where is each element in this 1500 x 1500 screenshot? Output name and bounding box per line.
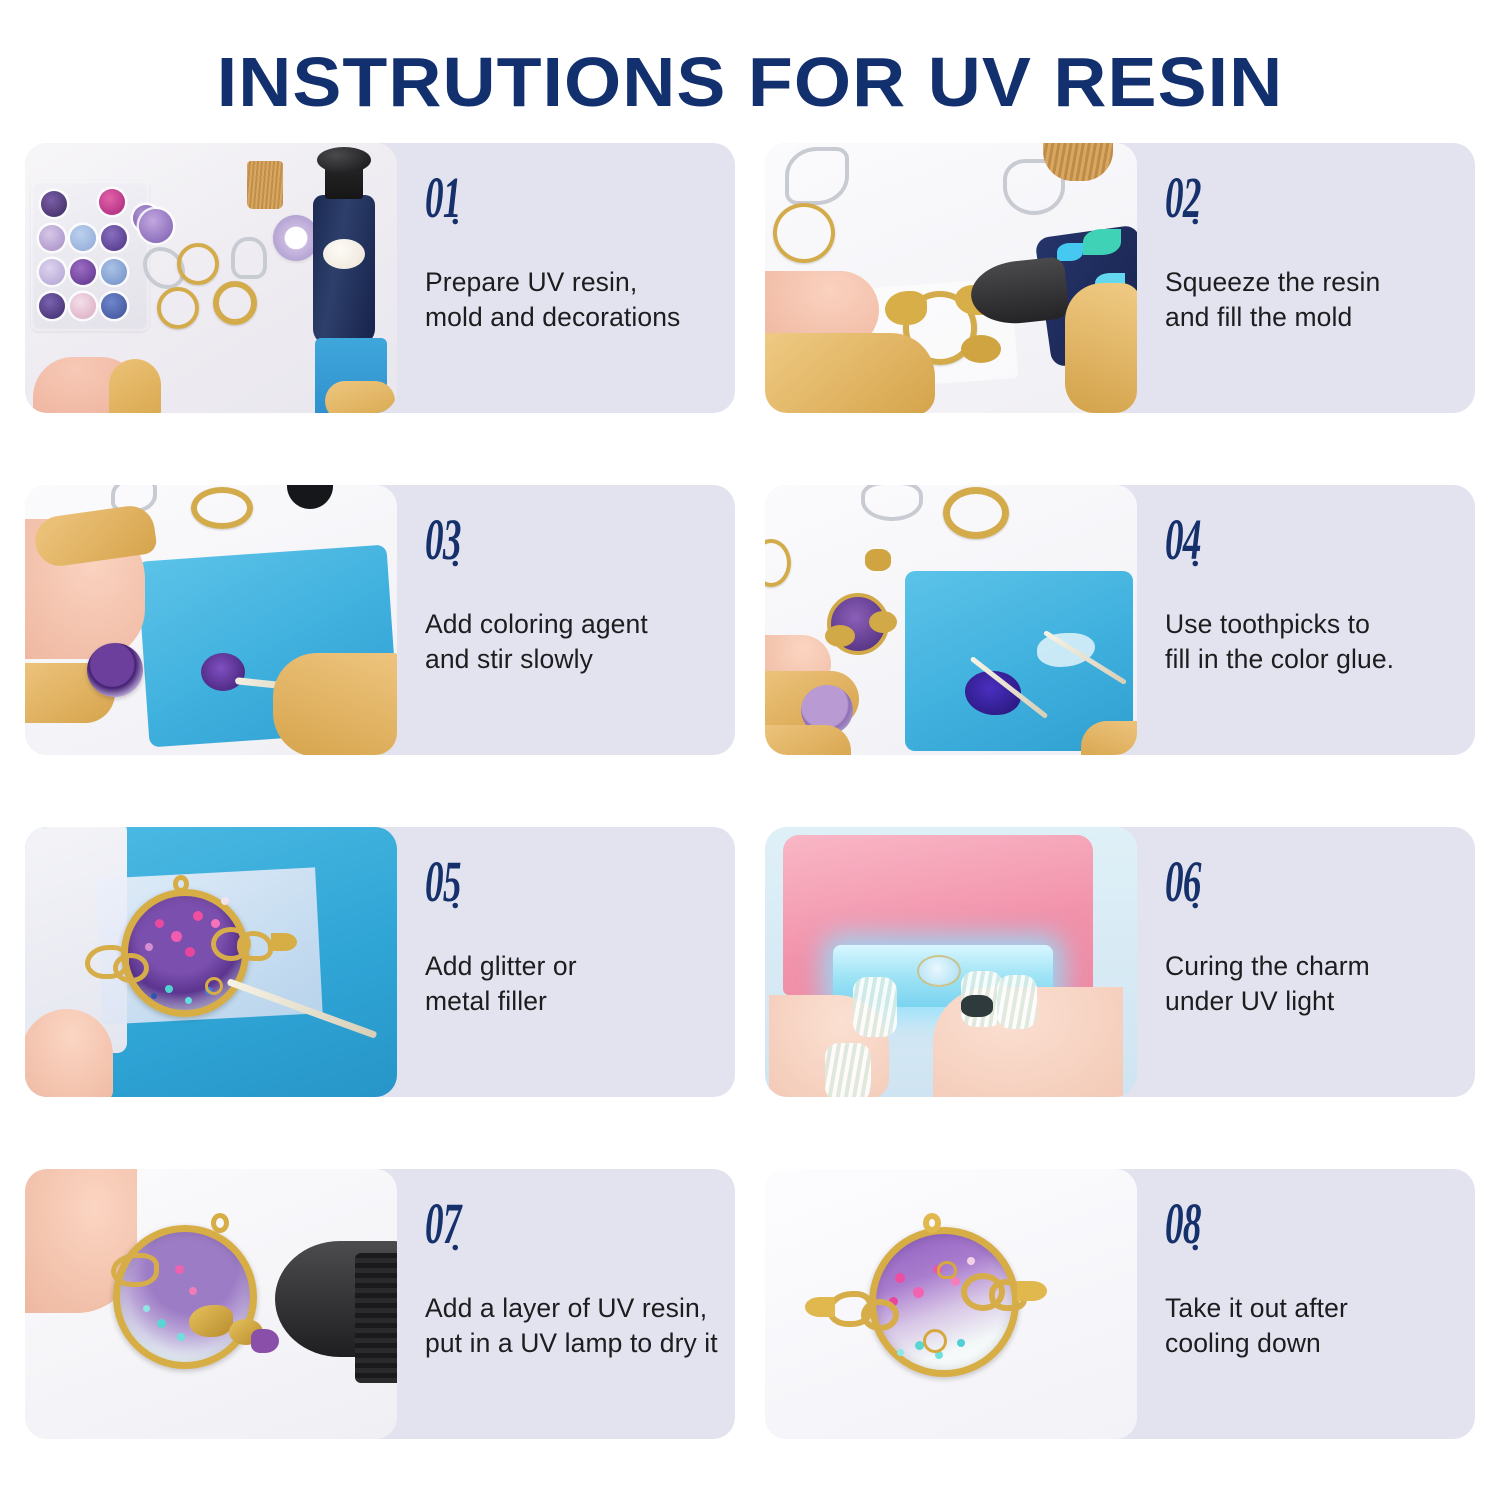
step-body-04: 04. Use toothpicks to fill in the color …: [1137, 485, 1475, 755]
step-card-03: 03. Add coloring agent and stir slowly: [25, 485, 735, 755]
step-body-01: 01. Prepare UV resin, mold and decoratio…: [397, 143, 735, 413]
photo-curing-charm-in-uv-lamp: [765, 827, 1137, 1097]
step-card-02: 02. Squeeze the resin and fill the mold: [765, 143, 1475, 413]
step-text-07: Add a layer of UV resin, put in a UV lam…: [425, 1291, 718, 1361]
step-text-08: Take it out after cooling down: [1165, 1291, 1348, 1361]
step-number-04: 04: [1165, 511, 1201, 569]
photo-adding-top-layer-of-resin: [25, 1169, 397, 1439]
photo-curing-charm-in-uv-lamp-card: 06. Curing the charm under UV light: [765, 827, 1475, 1097]
step-number-02: 02: [1165, 169, 1201, 227]
photo-supplies-glitter-tray-resin-bottle: [25, 143, 397, 413]
photo-finished-gold-resin-charm: [765, 1169, 1137, 1439]
step-text-02: Squeeze the resin and fill the mold: [1165, 265, 1380, 335]
step-number-08: 08: [1165, 1195, 1201, 1253]
step-number-07: 07: [425, 1195, 461, 1253]
photo-squeezing-resin-into-mold: [765, 143, 1137, 413]
step-card-07: 07. Add a layer of UV resin, put in a UV…: [25, 1169, 735, 1439]
step-body-02: 02. Squeeze the resin and fill the mold: [1137, 143, 1475, 413]
step-card-04: 04. Use toothpicks to fill in the color …: [765, 485, 1475, 755]
step-card-08: 08. Take it out after cooling down: [765, 1169, 1475, 1439]
step-text-05: Add glitter or metal filler: [425, 949, 577, 1019]
photo-adding-purple-coloring-agent: [25, 485, 397, 755]
step-text-01: Prepare UV resin, mold and decorations: [425, 265, 680, 335]
page-title: INSTRUTIONS FOR UV RESIN: [0, 42, 1500, 122]
step-number-05: 05: [425, 853, 461, 911]
step-number-03: 03: [425, 511, 461, 569]
step-body-05: 05. Add glitter or metal filler: [397, 827, 735, 1097]
step-card-05: 05. Add glitter or metal filler: [25, 827, 735, 1097]
step-body-07: 07. Add a layer of UV resin, put in a UV…: [397, 1169, 735, 1439]
photo-toothpicks-spreading-color-glue: [765, 485, 1137, 755]
step-body-03: 03. Add coloring agent and stir slowly: [397, 485, 735, 755]
step-text-06: Curing the charm under UV light: [1165, 949, 1370, 1019]
instruction-poster: INSTRUTIONS FOR UV RESIN: [0, 0, 1500, 1500]
step-body-06: 06. Curing the charm under UV light: [1137, 827, 1475, 1097]
step-card-01: 01. Prepare UV resin, mold and decoratio…: [25, 143, 735, 413]
step-text-04: Use toothpicks to fill in the color glue…: [1165, 607, 1394, 677]
step-body-08: 08. Take it out after cooling down: [1137, 1169, 1475, 1439]
step-number-01: 01: [425, 169, 461, 227]
photo-adding-glitter-to-charm: [25, 827, 397, 1097]
step-text-03: Add coloring agent and stir slowly: [425, 607, 648, 677]
step-number-06: 06: [1165, 853, 1201, 911]
steps-grid: 01. Prepare UV resin, mold and decoratio…: [25, 143, 1475, 1439]
